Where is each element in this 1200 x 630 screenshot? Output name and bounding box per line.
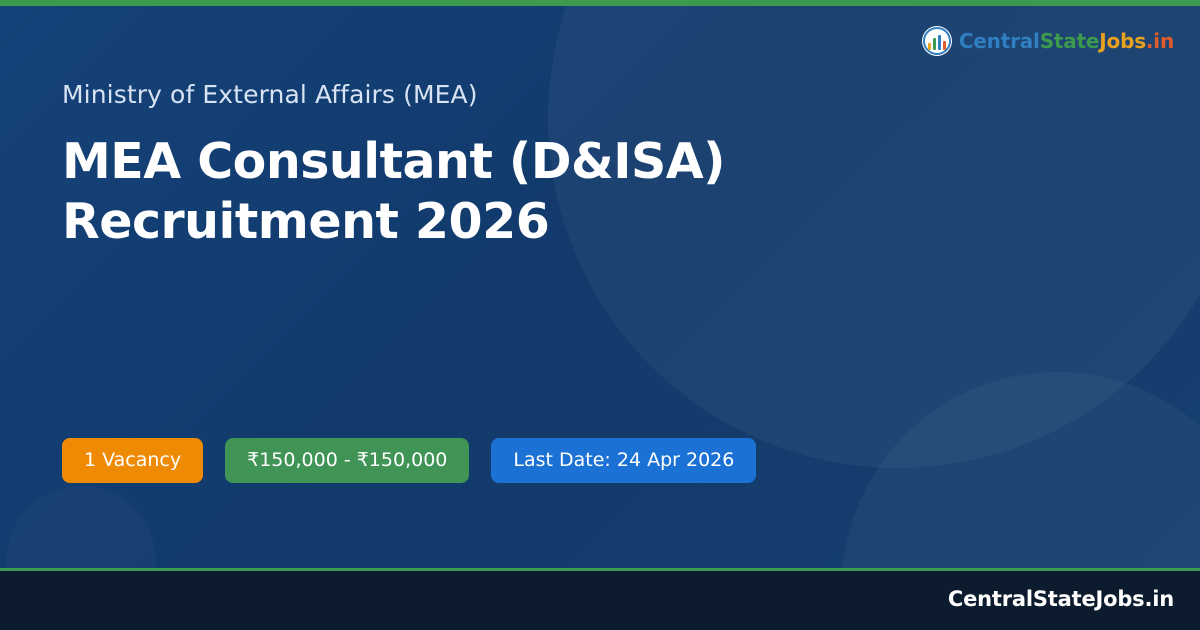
logo-word-jobs: Jobs [1099,29,1146,53]
footer-brand-text: CentralStateJobs.in [948,587,1174,611]
logo-word-state: State [1040,29,1100,53]
last-date-badge: Last Date: 24 Apr 2026 [491,438,756,483]
site-logo[interactable]: CentralStateJobs.in [922,26,1174,56]
logo-word-domain: .in [1146,29,1174,53]
page-title: MEA Consultant (D&ISA) Recruitment 2026 [62,132,762,253]
salary-badge: ₹150,000 - ₹150,000 [225,438,469,483]
banner-content: Ministry of External Affairs (MEA) MEA C… [62,80,862,253]
logo-word-central: Central [959,29,1040,53]
top-accent-rule [0,0,1200,6]
site-logo-text: CentralStateJobs.in [959,29,1174,53]
banner-footer: CentralStateJobs.in [0,568,1200,630]
vacancy-badge: 1 Vacancy [62,438,203,483]
organization-name: Ministry of External Affairs (MEA) [62,80,862,110]
job-banner: CentralStateJobs.in Ministry of External… [0,0,1200,630]
badge-row: 1 Vacancy ₹150,000 - ₹150,000 Last Date:… [62,438,756,483]
footer-accent-rule [0,568,1200,571]
bar-chart-circle-icon [922,26,952,56]
